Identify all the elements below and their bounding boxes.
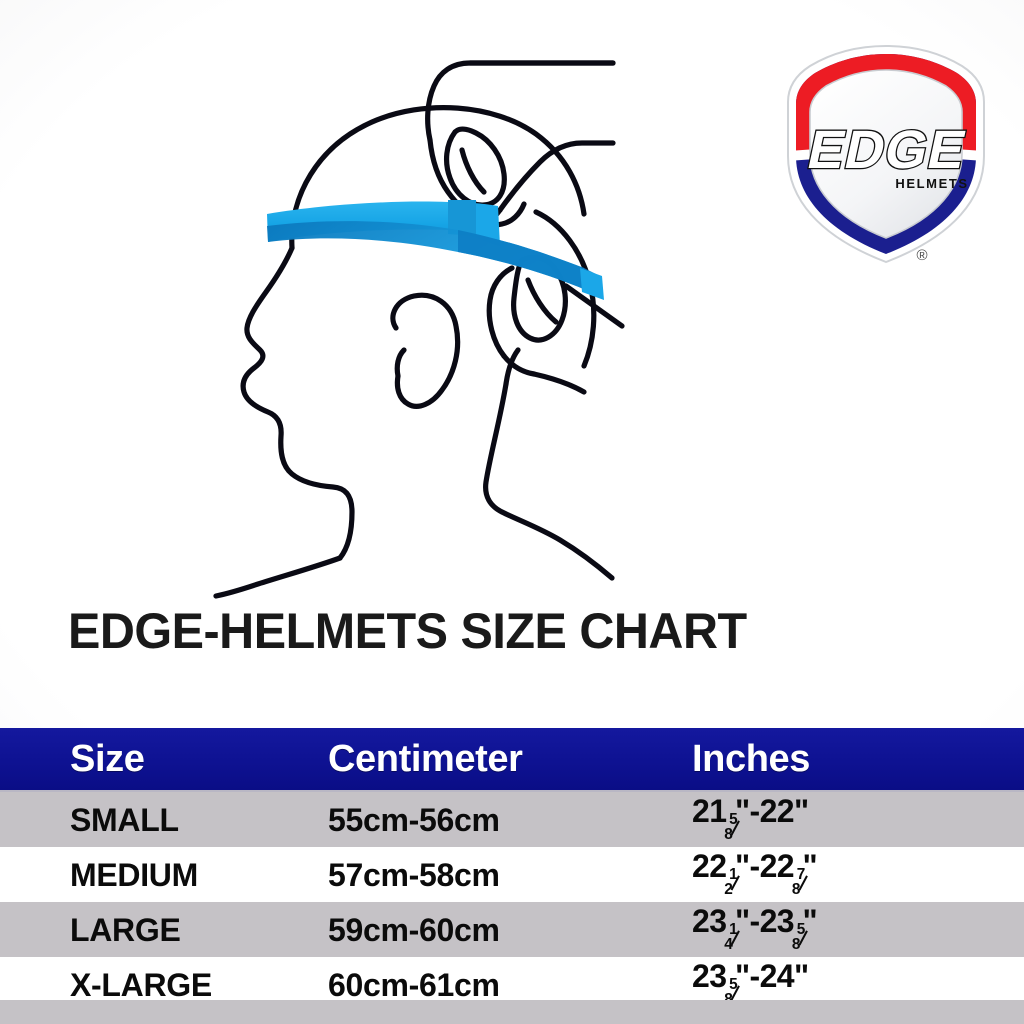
cell-inches: 2158"-22" (692, 793, 809, 829)
svg-text:EDGE: EDGE (802, 120, 972, 180)
cell-centimeter: 59cm-60cm (328, 912, 500, 948)
cell-centimeter: 60cm-61cm (328, 967, 500, 1003)
registered-mark-icon: ® (916, 247, 927, 264)
table-row: SMALL 55cm-56cm 2158"-22" (0, 792, 1024, 847)
table-header-row: Size Centimeter Inches (0, 728, 1024, 792)
ear-outline (393, 295, 458, 406)
logo-wordmark: EDGE (802, 120, 972, 180)
measuring-tape (267, 200, 604, 300)
column-header-centimeter: Centimeter (328, 738, 523, 780)
cell-inches: 2314"-2358" (692, 903, 817, 939)
logo-tagline: HELMETS (895, 176, 968, 191)
cell-centimeter: 55cm-56cm (328, 802, 500, 838)
column-header-inches: Inches (692, 738, 810, 780)
edge-helmets-logo: EDGE HELMETS ® (776, 38, 996, 270)
cell-inches: 2358"-24" (692, 958, 809, 994)
cell-size: SMALL (70, 802, 179, 838)
table-row: LARGE 59cm-60cm 2314"-2358" (0, 902, 1024, 957)
cell-size: X-LARGE (70, 967, 212, 1003)
table-row: MEDIUM 57cm-58cm 2212"-2278" (0, 847, 1024, 902)
cell-centimeter: 57cm-58cm (328, 857, 500, 893)
cell-size: LARGE (70, 912, 181, 948)
size-chart-table: Size Centimeter Inches SMALL 55cm-56cm 2… (0, 728, 1024, 1012)
cell-size: MEDIUM (70, 857, 198, 893)
page-title: EDGE-HELMETS SIZE CHART (68, 604, 747, 658)
size-chart-page: EDGE HELMETS ® EDGE-HELMETS SIZE CHART S… (0, 0, 1024, 1024)
column-header-size: Size (70, 738, 144, 780)
table-bottom-strip (0, 1000, 1024, 1024)
cell-inches: 2212"-2278" (692, 848, 817, 884)
